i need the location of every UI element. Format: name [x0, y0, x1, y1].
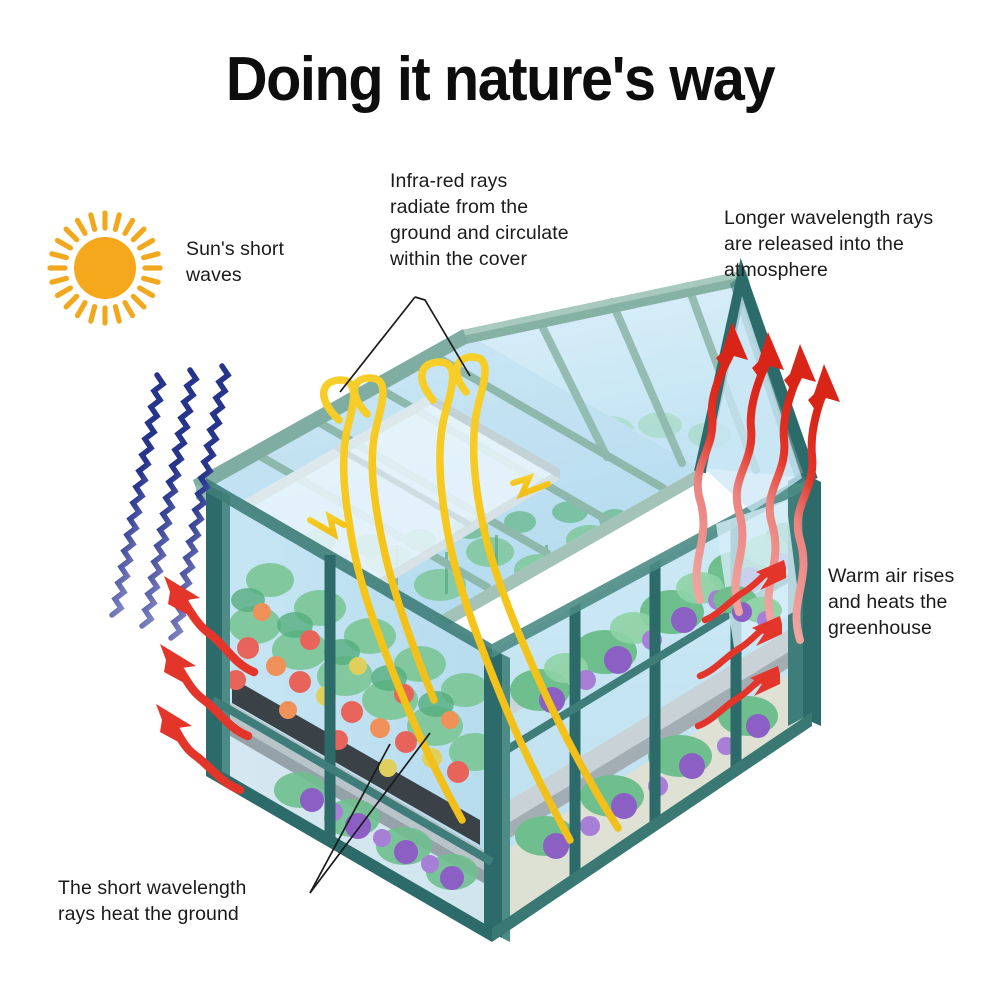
callout-sun-short-waves: Sun's short waves — [186, 236, 284, 288]
greenhouse-diagram — [0, 0, 1000, 1000]
infographic-canvas: Doing it nature's way — [0, 0, 1000, 1000]
sun-icon — [50, 213, 160, 323]
callout-infrared-rays: Infra-red rays radiate from the ground a… — [390, 168, 569, 273]
callout-short-wavelength-ground: The short wavelength rays heat the groun… — [58, 875, 246, 927]
blue-wavy-ray-icon — [112, 375, 163, 615]
callout-longer-wavelength: Longer wavelength rays are released into… — [724, 205, 933, 283]
heat-arrow-heads-left — [156, 576, 200, 744]
callout-warm-air-rises: Warm air rises and heats the greenhouse — [828, 563, 954, 641]
